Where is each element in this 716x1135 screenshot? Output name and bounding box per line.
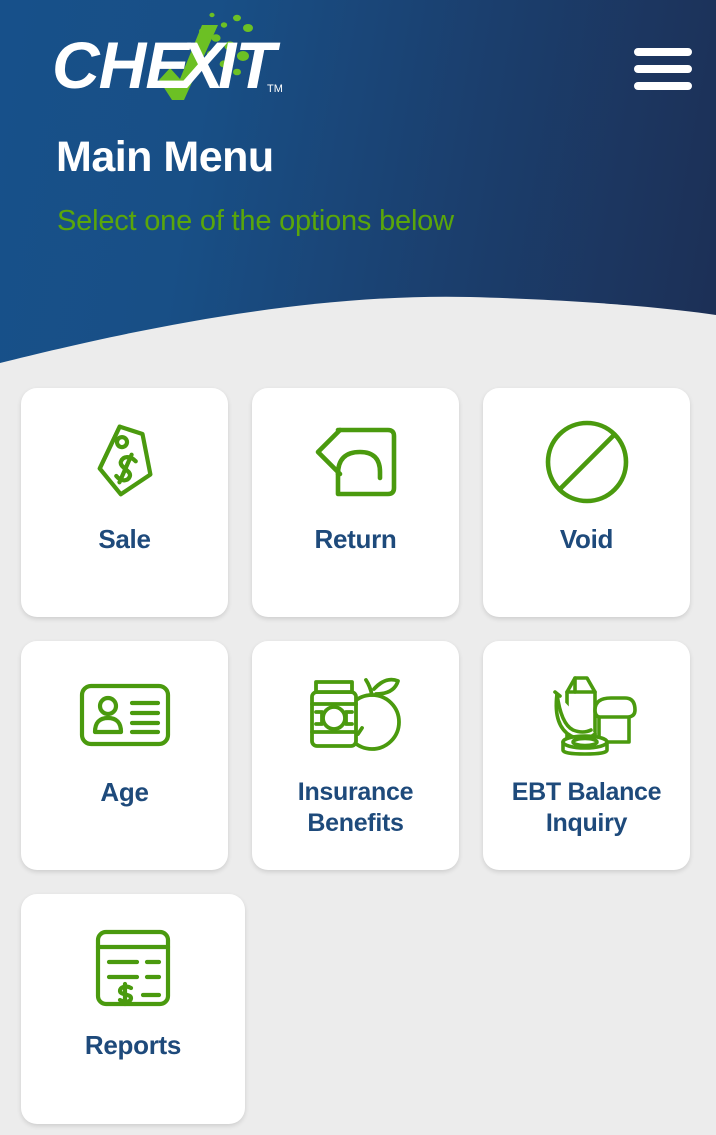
receipt-dollar-icon: [93, 908, 173, 1028]
hamburger-menu-icon[interactable]: [634, 44, 696, 94]
return-arrow-icon: [308, 402, 404, 522]
menu-card-label: EBT Balance Inquiry: [483, 777, 690, 838]
menu-card-ebt-balance-inquiry[interactable]: EBT Balance Inquiry: [483, 641, 690, 870]
menu-card-age[interactable]: Age: [21, 641, 228, 870]
menu-card-label: Void: [483, 524, 690, 556]
hamburger-bar-1: [634, 48, 692, 56]
app-header: CHE X IT TM Main Menu Select one of the …: [0, 0, 716, 385]
main-menu-screen: CHE X IT TM Main Menu Select one of the …: [0, 0, 716, 1135]
menu-card-label: Sale: [21, 524, 228, 556]
jar-and-orange-icon: [304, 655, 408, 775]
page-title: Main Menu: [56, 134, 274, 181]
menu-card-insurance-benefits[interactable]: Insurance Benefits: [252, 641, 459, 870]
svg-text:CHE: CHE: [52, 28, 191, 102]
menu-card-void[interactable]: Void: [483, 388, 690, 617]
chexit-logo: CHE X IT TM: [52, 8, 382, 113]
header-curve-decoration: [0, 275, 716, 385]
menu-card-label: Insurance Benefits: [252, 777, 459, 838]
menu-grid: Sale Return Void: [21, 388, 695, 1124]
svg-text:TM: TM: [267, 83, 283, 95]
groceries-icon: [533, 655, 641, 775]
menu-card-sale[interactable]: Sale: [21, 388, 228, 617]
menu-card-label: Age: [21, 777, 228, 809]
menu-card-return[interactable]: Return: [252, 388, 459, 617]
prohibition-circle-icon: [541, 402, 633, 522]
hamburger-bar-3: [634, 82, 692, 90]
menu-card-label: Reports: [21, 1030, 245, 1062]
id-card-icon: [78, 655, 172, 775]
hamburger-bar-2: [634, 65, 692, 73]
price-tag-dollar-icon: [79, 402, 171, 522]
menu-card-label: Return: [252, 524, 459, 556]
page-subtitle: Select one of the options below: [57, 206, 454, 238]
menu-card-reports[interactable]: Reports: [21, 894, 245, 1124]
